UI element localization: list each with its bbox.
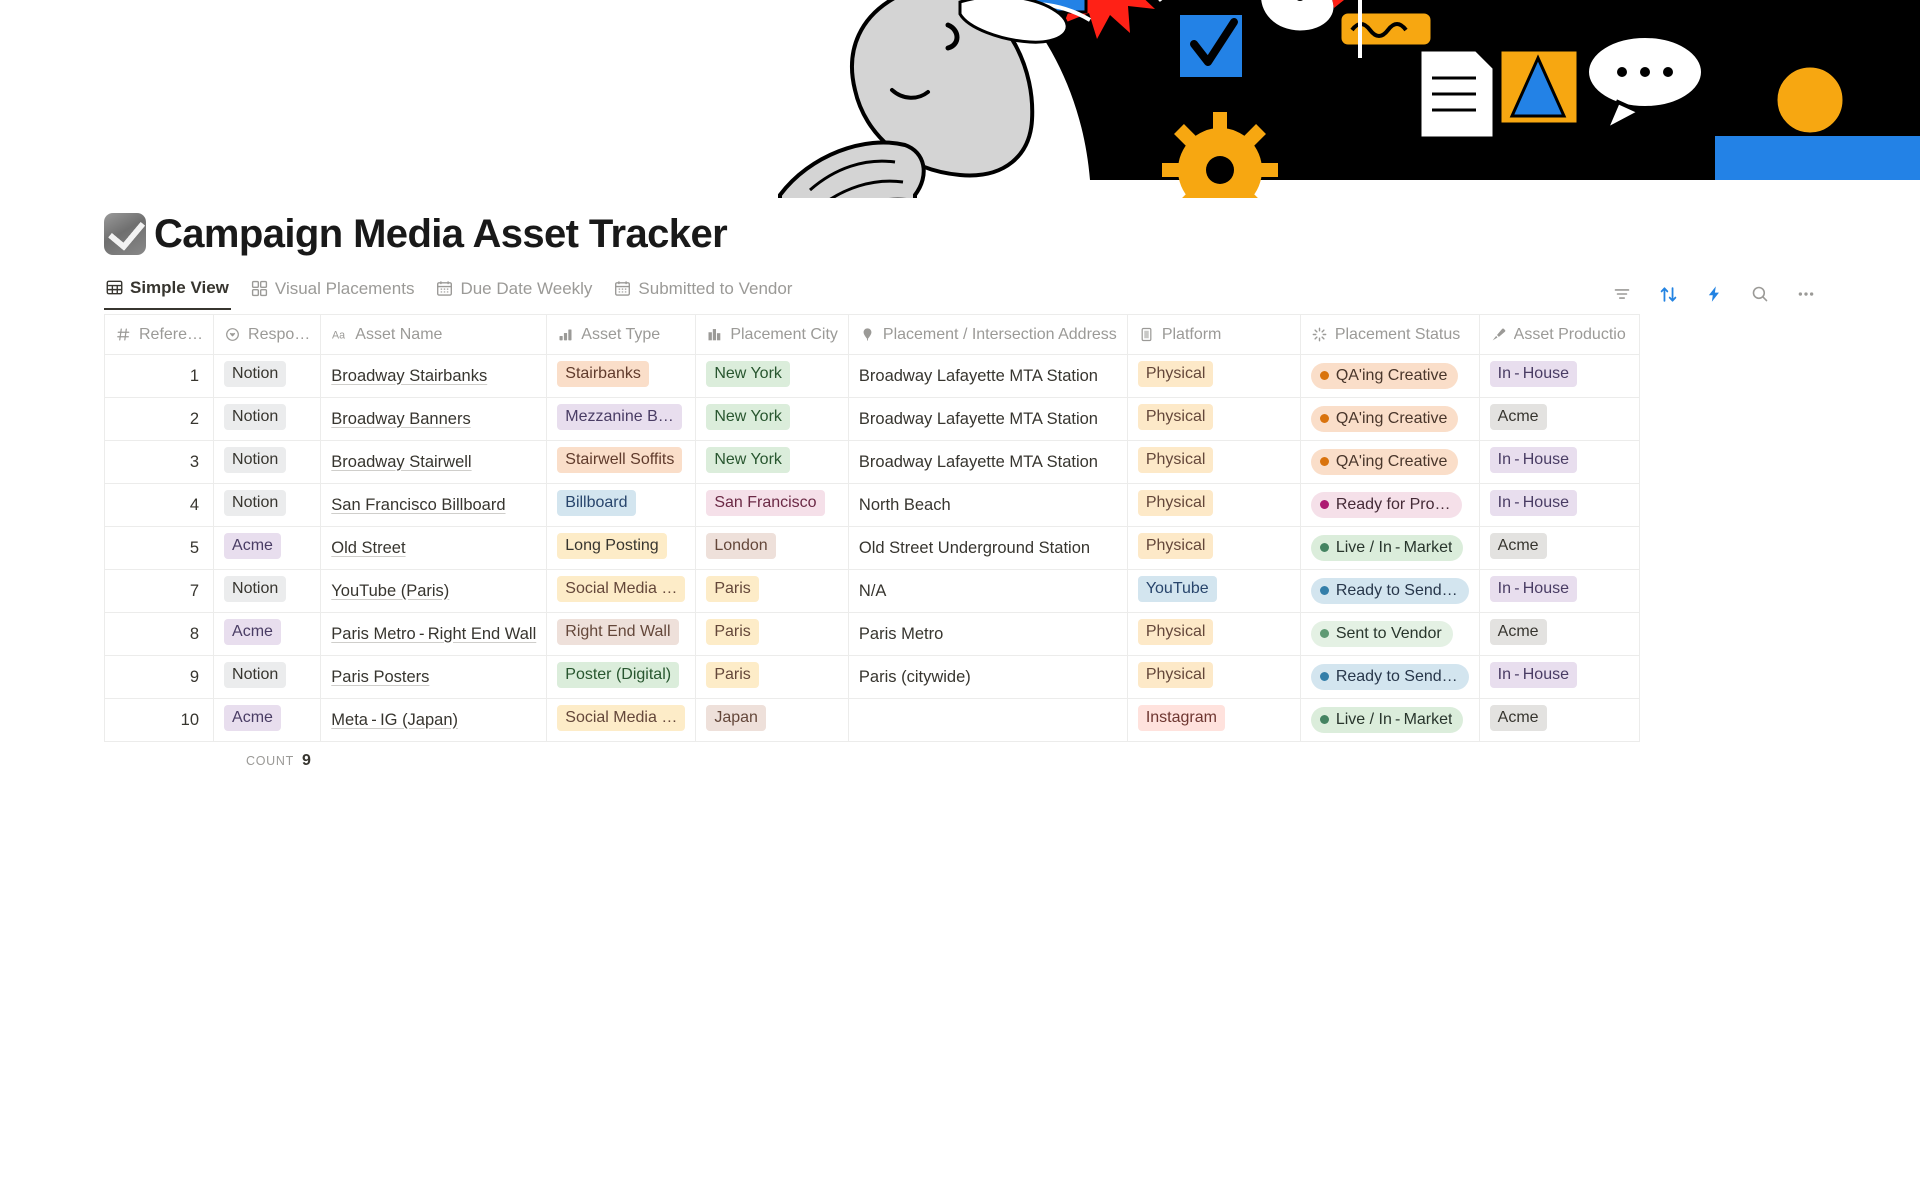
cell-placement-address[interactable]: N/A — [848, 570, 1127, 613]
automation-lightning-icon[interactable] — [1704, 284, 1724, 304]
table-row[interactable]: 7NotionYouTube (Paris)Social Media …Pari… — [105, 570, 1640, 613]
tag-asset-type[interactable]: Stairbanks — [557, 361, 649, 387]
cell-placement-status[interactable]: QA'ing Creative — [1300, 441, 1479, 484]
status-dot-icon — [1320, 371, 1329, 380]
cell-placement-address[interactable]: Old Street Underground Station — [848, 527, 1127, 570]
tag-placement-city[interactable]: New York — [706, 447, 790, 473]
status-label: QA'ing Creative — [1336, 408, 1448, 429]
cell-placement-city[interactable]: London — [696, 527, 849, 570]
cell-asset-production[interactable]: Acme — [1479, 613, 1639, 656]
tag-placement-status[interactable]: QA'ing Creative — [1311, 449, 1459, 475]
cell-placement-address[interactable]: Paris (citywide) — [848, 656, 1127, 699]
text-aa-icon: Aa — [331, 328, 348, 342]
tag-platform[interactable]: Physical — [1138, 533, 1214, 559]
status-label: Ready for Pro… — [1336, 494, 1451, 515]
cell-platform[interactable]: Physical — [1127, 398, 1300, 441]
tag-responsible[interactable]: Notion — [224, 404, 286, 430]
asset-name-link[interactable]: San Francisco Billboard — [331, 496, 505, 514]
cell-placement-status[interactable]: QA'ing Creative — [1300, 398, 1479, 441]
calendar-icon — [436, 280, 453, 297]
cell-asset-production[interactable]: Acme — [1479, 527, 1639, 570]
cell-platform[interactable]: Physical — [1127, 484, 1300, 527]
tag-placement-city[interactable]: Paris — [706, 619, 758, 645]
multiselect-bars-icon — [557, 327, 574, 342]
tab-submitted-to-vendor[interactable]: Submitted to Vendor — [612, 274, 794, 310]
cell-responsible[interactable]: Notion — [214, 484, 321, 527]
cell-placement-city[interactable]: San Francisco — [696, 484, 849, 527]
status-dot-icon — [1320, 629, 1329, 638]
cell-asset-type[interactable]: Stairbanks — [547, 355, 696, 398]
device-icon — [1138, 327, 1155, 342]
cell-placement-address[interactable]: Broadway Lafayette MTA Station — [848, 355, 1127, 398]
tag-asset-production[interactable]: Acme — [1490, 533, 1547, 559]
table-row[interactable]: 2NotionBroadway BannersMezzanine B…New Y… — [105, 398, 1640, 441]
cell-placement-city[interactable]: Paris — [696, 570, 849, 613]
cell-reference[interactable]: 10 — [105, 699, 214, 742]
cell-placement-status[interactable]: QA'ing Creative — [1300, 355, 1479, 398]
tag-responsible[interactable]: Acme — [224, 619, 281, 645]
table-row[interactable]: 8AcmeParis Metro - Right End WallRight E… — [105, 613, 1640, 656]
page-body: Campaign Media Asset Tracker Simple View — [0, 198, 1920, 780]
tag-asset-production[interactable]: In - House — [1490, 576, 1577, 602]
cell-responsible[interactable]: Acme — [214, 527, 321, 570]
cell-asset-name[interactable]: Broadway Banners — [321, 398, 547, 441]
table-row[interactable]: 9NotionParis PostersPoster (Digital)Pari… — [105, 656, 1640, 699]
cell-asset-name[interactable]: Paris Metro - Right End Wall — [321, 613, 547, 656]
cell-asset-type[interactable]: Stairwell Soffits — [547, 441, 696, 484]
cell-placement-city[interactable]: Japan — [696, 699, 849, 742]
tag-responsible[interactable]: Acme — [224, 533, 281, 559]
view-toolbar — [1612, 284, 1816, 310]
tag-asset-production[interactable]: In - House — [1490, 447, 1577, 473]
map-pin-icon — [859, 327, 876, 342]
cell-platform[interactable]: Physical — [1127, 656, 1300, 699]
cell-placement-address[interactable]: Paris Metro — [848, 613, 1127, 656]
tag-platform[interactable]: Physical — [1138, 662, 1214, 688]
cell-responsible[interactable]: Notion — [214, 355, 321, 398]
asset-name-link[interactable]: Broadway Stairbanks — [331, 367, 487, 385]
cell-asset-type[interactable]: Social Media … — [547, 699, 696, 742]
number-hash-icon — [115, 327, 132, 342]
tab-label: Due Date Weekly — [460, 279, 592, 299]
tag-placement-status[interactable]: Ready for Pro… — [1311, 492, 1462, 518]
table-header-row: Refere… Respo… — [105, 315, 1640, 355]
tag-platform[interactable]: Physical — [1138, 619, 1214, 645]
tag-asset-production[interactable]: In - House — [1490, 662, 1577, 688]
cell-asset-production[interactable]: In - House — [1479, 441, 1639, 484]
status-dot-icon — [1320, 715, 1329, 724]
tag-asset-production[interactable]: Acme — [1490, 705, 1547, 731]
table-row[interactable]: 4NotionSan Francisco BillboardBillboardS… — [105, 484, 1640, 527]
cell-placement-city[interactable]: New York — [696, 355, 849, 398]
cell-placement-status[interactable]: Live / In - Market — [1300, 699, 1479, 742]
cell-platform[interactable]: Instagram — [1127, 699, 1300, 742]
search-icon[interactable] — [1750, 284, 1770, 304]
tag-asset-type[interactable]: Mezzanine B… — [557, 404, 682, 430]
cell-asset-production[interactable]: Acme — [1479, 398, 1639, 441]
tag-placement-city[interactable]: New York — [706, 404, 790, 430]
brush-icon — [1490, 327, 1507, 342]
asset-name-link[interactable]: Paris Metro - Right End Wall — [331, 625, 536, 643]
cell-reference[interactable]: 2 — [105, 398, 214, 441]
column-header-placement-status[interactable]: Placement Status — [1300, 315, 1479, 355]
table-row[interactable]: 5AcmeOld StreetLong PostingLondonOld Str… — [105, 527, 1640, 570]
tag-placement-city[interactable]: Paris — [706, 662, 758, 688]
view-tabs-bar: Simple View Visual Placements — [0, 274, 1920, 310]
filter-icon[interactable] — [1612, 284, 1632, 304]
status-dot-icon — [1320, 672, 1329, 681]
cell-asset-production[interactable]: In - House — [1479, 355, 1639, 398]
cell-asset-production[interactable]: Acme — [1479, 699, 1639, 742]
page-cover — [0, 0, 1920, 198]
tag-platform[interactable]: Instagram — [1138, 705, 1225, 731]
tag-asset-type[interactable]: Social Media … — [557, 576, 685, 602]
tab-label: Submitted to Vendor — [638, 279, 792, 299]
table-row[interactable]: 10AcmeMeta - IG (Japan)Social Media …Jap… — [105, 699, 1640, 742]
building-icon — [706, 327, 723, 342]
cell-asset-type[interactable]: Mezzanine B… — [547, 398, 696, 441]
cell-placement-city[interactable]: New York — [696, 398, 849, 441]
tag-placement-status[interactable]: Ready to Send… — [1311, 664, 1469, 690]
table-footer-count[interactable]: COUNT 9 — [208, 742, 1920, 780]
tab-label: Simple View — [130, 278, 229, 298]
tag-responsible[interactable]: Notion — [224, 361, 286, 387]
calendar-icon — [614, 280, 631, 297]
cell-placement-status[interactable]: Ready to Send… — [1300, 570, 1479, 613]
cell-placement-address[interactable] — [848, 699, 1127, 742]
tag-placement-status[interactable]: Live / In - Market — [1311, 707, 1464, 733]
column-header-reference[interactable]: Refere… — [105, 315, 214, 355]
cell-placement-city[interactable]: New York — [696, 441, 849, 484]
cell-responsible[interactable]: Notion — [214, 570, 321, 613]
cell-asset-production[interactable]: In - House — [1479, 656, 1639, 699]
tag-asset-type[interactable]: Poster (Digital) — [557, 662, 679, 688]
more-options-icon[interactable] — [1796, 284, 1816, 304]
cell-responsible[interactable]: Acme — [214, 699, 321, 742]
status-label: Ready to Send… — [1336, 666, 1458, 687]
gallery-icon — [251, 280, 268, 297]
tag-asset-production[interactable]: In - House — [1490, 490, 1577, 516]
count-value: 9 — [302, 752, 311, 770]
column-header-asset-production[interactable]: Asset Productio — [1479, 315, 1639, 355]
asset-name-link[interactable]: Broadway Stairwell — [331, 453, 471, 471]
asset-name-link[interactable]: Broadway Banners — [331, 410, 470, 428]
tag-asset-production[interactable]: Acme — [1490, 619, 1547, 645]
status-label: QA'ing Creative — [1336, 451, 1448, 472]
tag-responsible[interactable]: Notion — [224, 662, 286, 688]
tag-placement-status[interactable]: QA'ing Creative — [1311, 406, 1459, 432]
tab-simple-view[interactable]: Simple View — [104, 274, 231, 310]
cell-platform[interactable]: YouTube — [1127, 570, 1300, 613]
cell-platform[interactable]: Physical — [1127, 527, 1300, 570]
tag-asset-type[interactable]: Stairwell Soffits — [557, 447, 682, 473]
cell-placement-address[interactable]: Broadway Lafayette MTA Station — [848, 441, 1127, 484]
cell-asset-type[interactable]: Billboard — [547, 484, 696, 527]
column-header-asset-type[interactable]: Asset Type — [547, 315, 696, 355]
tab-visual-placements[interactable]: Visual Placements — [249, 274, 417, 310]
cell-reference[interactable]: 3 — [105, 441, 214, 484]
cell-reference[interactable]: 4 — [105, 484, 214, 527]
page-title-row: Campaign Media Asset Tracker — [104, 212, 1920, 256]
cell-asset-name[interactable]: Old Street — [321, 527, 547, 570]
status-dot-icon — [1320, 543, 1329, 552]
cell-asset-production[interactable]: In - House — [1479, 570, 1639, 613]
status-label: Live / In - Market — [1336, 537, 1453, 558]
cell-placement-status[interactable]: Sent to Vendor — [1300, 613, 1479, 656]
tab-label: Visual Placements — [275, 279, 415, 299]
cell-asset-type[interactable]: Poster (Digital) — [547, 656, 696, 699]
sort-icon[interactable] — [1658, 284, 1678, 304]
status-dot-icon — [1320, 586, 1329, 595]
status-label: Live / In - Market — [1336, 709, 1453, 730]
cell-asset-type[interactable]: Right End Wall — [547, 613, 696, 656]
svg-text:Aa: Aa — [332, 329, 345, 341]
status-spinner-icon — [1311, 327, 1328, 342]
tag-platform[interactable]: YouTube — [1138, 576, 1217, 602]
cell-placement-address[interactable]: North Beach — [848, 484, 1127, 527]
cell-responsible[interactable]: Notion — [214, 398, 321, 441]
table-row[interactable]: 1NotionBroadway StairbanksStairbanksNew … — [105, 355, 1640, 398]
count-label: COUNT — [246, 754, 294, 768]
cell-reference[interactable]: 7 — [105, 570, 214, 613]
tag-placement-status[interactable]: QA'ing Creative — [1311, 363, 1459, 389]
tag-asset-production[interactable]: In - House — [1490, 361, 1577, 387]
tag-placement-city[interactable]: Paris — [706, 576, 758, 602]
tag-platform[interactable]: Physical — [1138, 404, 1214, 430]
tab-due-date-weekly[interactable]: Due Date Weekly — [434, 274, 594, 310]
tag-asset-type[interactable]: Right End Wall — [557, 619, 678, 645]
cell-placement-address[interactable]: Broadway Lafayette MTA Station — [848, 398, 1127, 441]
cell-responsible[interactable]: Notion — [214, 441, 321, 484]
status-label: Ready to Send… — [1336, 580, 1458, 601]
table-body: 1NotionBroadway StairbanksStairbanksNew … — [105, 355, 1640, 742]
status-dot-icon — [1320, 457, 1329, 466]
status-label: Sent to Vendor — [1336, 623, 1442, 644]
status-dot-icon — [1320, 414, 1329, 423]
tag-asset-type[interactable]: Social Media … — [557, 705, 685, 731]
tag-responsible[interactable]: Acme — [224, 705, 281, 731]
cell-responsible[interactable]: Notion — [214, 656, 321, 699]
cell-placement-city[interactable]: Paris — [696, 656, 849, 699]
tag-platform[interactable]: Physical — [1138, 361, 1214, 387]
cell-platform[interactable]: Physical — [1127, 441, 1300, 484]
tag-responsible[interactable]: Notion — [224, 576, 286, 602]
column-header-placement-address[interactable]: Placement / Intersection Address — [848, 315, 1127, 355]
tag-placement-city[interactable]: New York — [706, 361, 790, 387]
tag-asset-type[interactable]: Billboard — [557, 490, 635, 516]
status-dot-icon — [1320, 500, 1329, 509]
cell-asset-name[interactable]: Broadway Stairwell — [321, 441, 547, 484]
tag-platform[interactable]: Physical — [1138, 447, 1214, 473]
cell-asset-production[interactable]: In - House — [1479, 484, 1639, 527]
tag-placement-status[interactable]: Sent to Vendor — [1311, 621, 1453, 647]
cell-reference[interactable]: 8 — [105, 613, 214, 656]
column-header-asset-name[interactable]: Aa Asset Name — [321, 315, 547, 355]
column-header-placement-city[interactable]: Placement City — [696, 315, 849, 355]
cell-platform[interactable]: Physical — [1127, 613, 1300, 656]
column-header-responsible[interactable]: Respo… — [214, 315, 321, 355]
view-tabs: Simple View Visual Placements — [104, 274, 794, 310]
cell-asset-name[interactable]: San Francisco Billboard — [321, 484, 547, 527]
cell-placement-status[interactable]: Ready to Send… — [1300, 656, 1479, 699]
database-table: Refere… Respo… — [104, 314, 1640, 742]
database-table-wrapper: Refere… Respo… — [0, 314, 1920, 780]
asset-name-link[interactable]: YouTube (Paris) — [331, 582, 449, 600]
column-header-platform[interactable]: Platform — [1127, 315, 1300, 355]
ballot-box-with-check-icon[interactable] — [104, 213, 146, 255]
asset-name-link[interactable]: Old Street — [331, 539, 405, 557]
cell-asset-type[interactable]: Social Media … — [547, 570, 696, 613]
cell-placement-city[interactable]: Paris — [696, 613, 849, 656]
cell-responsible[interactable]: Acme — [214, 613, 321, 656]
asset-name-link[interactable]: Meta - IG (Japan) — [331, 711, 458, 729]
cell-placement-status[interactable]: Live / In - Market — [1300, 527, 1479, 570]
cover-illustration — [660, 0, 1920, 198]
tag-responsible[interactable]: Notion — [224, 447, 286, 473]
tag-placement-city[interactable]: San Francisco — [706, 490, 824, 516]
page-title[interactable]: Campaign Media Asset Tracker — [154, 212, 727, 256]
cell-reference[interactable]: 9 — [105, 656, 214, 699]
cell-reference[interactable]: 5 — [105, 527, 214, 570]
tag-asset-production[interactable]: Acme — [1490, 404, 1547, 430]
asset-name-link[interactable]: Paris Posters — [331, 668, 429, 686]
cell-platform[interactable]: Physical — [1127, 355, 1300, 398]
cell-asset-name[interactable]: Paris Posters — [321, 656, 547, 699]
table-icon — [106, 279, 123, 296]
cell-asset-name[interactable]: Broadway Stairbanks — [321, 355, 547, 398]
tag-asset-type[interactable]: Long Posting — [557, 533, 666, 559]
cell-asset-name[interactable]: Meta - IG (Japan) — [321, 699, 547, 742]
table-row[interactable]: 3NotionBroadway StairwellStairwell Soffi… — [105, 441, 1640, 484]
tag-placement-status[interactable]: Ready to Send… — [1311, 578, 1469, 604]
cell-asset-type[interactable]: Long Posting — [547, 527, 696, 570]
tag-placement-city[interactable]: London — [706, 533, 775, 559]
cell-placement-status[interactable]: Ready for Pro… — [1300, 484, 1479, 527]
select-circle-icon — [224, 327, 241, 342]
tag-placement-city[interactable]: Japan — [706, 705, 766, 731]
tag-responsible[interactable]: Notion — [224, 490, 286, 516]
cell-reference[interactable]: 1 — [105, 355, 214, 398]
cell-asset-name[interactable]: YouTube (Paris) — [321, 570, 547, 613]
status-label: QA'ing Creative — [1336, 365, 1448, 386]
tag-platform[interactable]: Physical — [1138, 490, 1214, 516]
tag-placement-status[interactable]: Live / In - Market — [1311, 535, 1464, 561]
